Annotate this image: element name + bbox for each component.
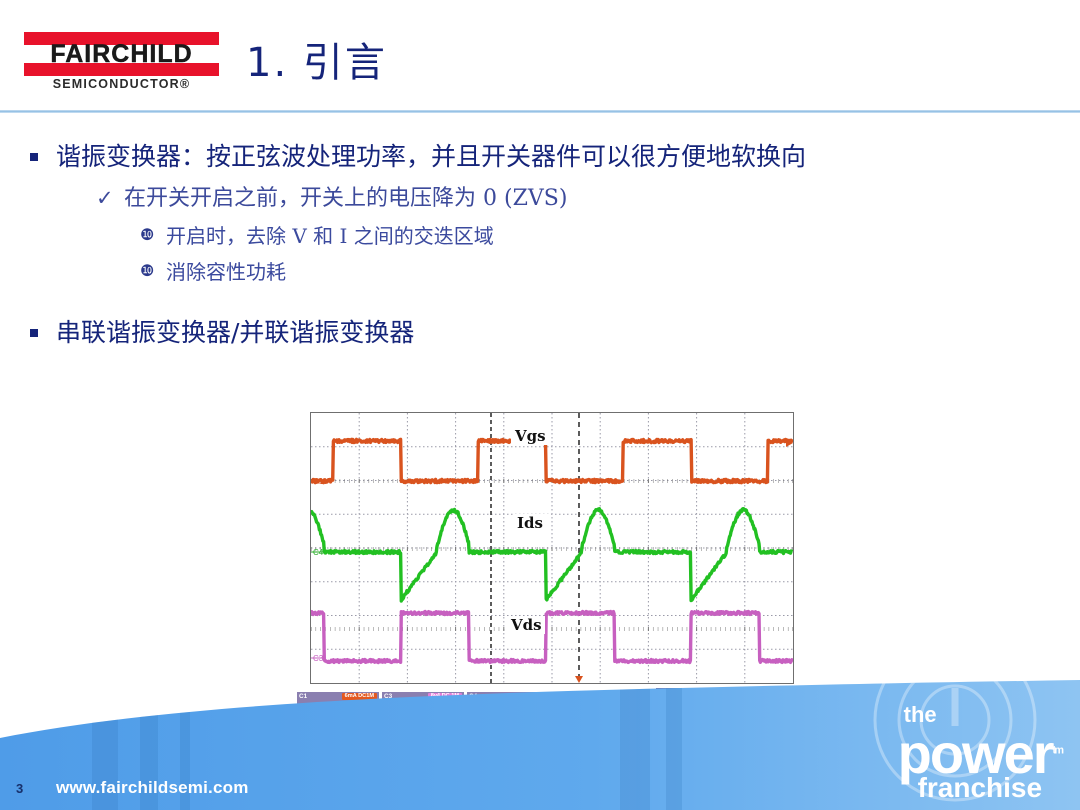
svg-text:Vds: Vds (510, 616, 542, 634)
bullet-marker-ten-icon: ❿ (140, 220, 166, 252)
bullet-level1-resonant-converter: 谐振变换器：按正弦波处理功率，并且开关器件可以很方便地软换向 (30, 138, 1080, 176)
page-title: 1. 引言 (246, 30, 387, 88)
fairchild-logo: FAIRCHILD SEMICONDUCTOR® (24, 32, 219, 94)
bullet-list: 谐振变换器：按正弦波处理功率，并且开关器件可以很方便地软换向 ✓ 在开关开启之前… (0, 126, 1080, 352)
bullet-text: 串联谐振变换器/并联谐振变换器 (56, 314, 414, 352)
brand-power: powertm (898, 726, 1062, 782)
brand-tm: tm (1053, 744, 1062, 756)
bullet-marker-ten-icon: ❿ (140, 256, 166, 288)
wave-label-ids: Ids (513, 514, 551, 532)
slide-header: FAIRCHILD SEMICONDUCTOR® 1. 引言 (0, 0, 1080, 112)
scope-plot-area: C1C4C3VgsIdsVds (310, 412, 794, 684)
svg-text:Ids: Ids (517, 514, 543, 532)
slide: FAIRCHILD SEMICONDUCTOR® 1. 引言 谐振变换器：按正弦… (0, 0, 1080, 810)
page-number: 3 (16, 781, 23, 796)
bullet-level3-overlap: ❿ 开启时，去除 V 和 I 之间的交迭区域 (140, 220, 1080, 252)
bullet-text: 开启时，去除 V 和 I 之间的交迭区域 (166, 220, 494, 252)
bullet-text: 谐振变换器：按正弦波处理功率，并且开关器件可以很方便地软换向 (56, 138, 806, 176)
bullet-level1-series-parallel: 串联谐振变换器/并联谐振变换器 (30, 314, 1080, 352)
logo-wordmark: FAIRCHILD (24, 42, 219, 66)
bullet-marker-square (30, 138, 56, 176)
bullet-text: 消除容性功耗 (166, 256, 286, 288)
bullet-text: 在开关开启之前，开关上的电压降为 0 (ZVS) (124, 182, 567, 216)
svg-text:Vgs: Vgs (514, 427, 546, 445)
bullet-level3-capacitive-loss: ❿ 消除容性功耗 (140, 256, 1080, 288)
brand-power-text: power (898, 722, 1053, 785)
power-franchise-logo: the powertm franchise (898, 704, 1062, 802)
waveform-svg: C1C4C3VgsIdsVds (311, 413, 793, 683)
header-divider (0, 110, 1080, 113)
footer-decoration: 3 www.fairchildsemi.com the powertm fran… (0, 680, 1080, 810)
footer-website[interactable]: www.fairchildsemi.com (56, 778, 249, 798)
bullet-level2-zvs: ✓ 在开关开启之前，开关上的电压降为 0 (ZVS) (96, 182, 1080, 216)
bullet-marker-check-icon: ✓ (96, 182, 124, 216)
wave-label-vgs: Vgs (511, 427, 549, 445)
logo-subtitle: SEMICONDUCTOR® (24, 77, 219, 91)
bullet-marker-square (30, 314, 56, 352)
wave-label-vds: Vds (507, 616, 545, 634)
